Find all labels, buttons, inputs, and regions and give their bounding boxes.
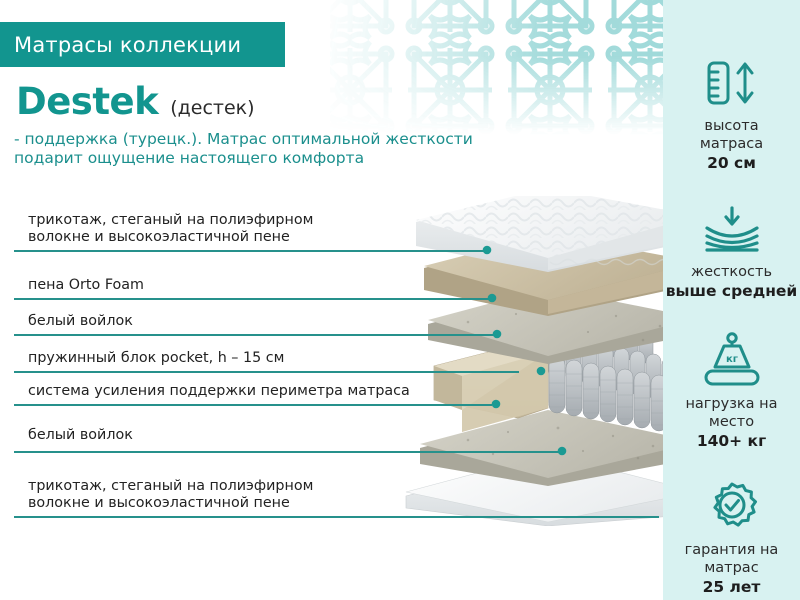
- leader-dot-white-felt-1: [490, 327, 504, 341]
- layer-label-white-felt-2: белый войлок: [14, 427, 559, 444]
- brand-description: - поддержка (турецк.). Матрас оптимально…: [14, 130, 554, 168]
- spec-caption-line-2: место: [669, 413, 794, 431]
- layer-label-line-2: волокне и высокоэластичной пене: [14, 229, 484, 246]
- collection-banner: Матрасы коллекции: [0, 22, 285, 67]
- spec-caption: нагрузка на место: [663, 395, 800, 431]
- layer-label-line-2: волокне и высокоэластичной пене: [14, 495, 664, 512]
- collection-banner-label: Матрасы коллекции: [0, 33, 241, 57]
- layer-label-line-1: система усиления поддержки периметра мат…: [14, 383, 492, 400]
- spec-load-capacity: кг нагрузка на место 140+ кг: [663, 330, 800, 450]
- spec-caption-line-2: матрас: [669, 559, 794, 577]
- layer-label-white-felt-1: белый войлок: [14, 313, 494, 330]
- spec-caption: гарантия на матрас: [663, 541, 800, 577]
- layer-label-pocket-block: пружинный блок pocket, h – 15 см: [14, 350, 519, 367]
- layer-label-line-1: белый войлок: [14, 313, 494, 330]
- brand-description-line-1: - поддержка (турецк.). Матрас оптимально…: [14, 130, 554, 149]
- layer-label-line-1: трикотаж, стеганый на полиэфирном: [14, 478, 664, 495]
- specs-sidebar: высота матраса 20 см жесткость выше с: [663, 0, 800, 600]
- leader-dot-pocket-block: [534, 364, 548, 378]
- spec-value: 20 см: [663, 154, 800, 172]
- spec-value: выше средней: [663, 282, 800, 300]
- layer-label-orto-foam: пена Orto Foam: [14, 277, 489, 294]
- leader-dot-knit-top: [480, 243, 494, 257]
- spec-mattress-height: высота матраса 20 см: [663, 52, 800, 172]
- leader-dot-orto-foam: [485, 291, 499, 305]
- layer-label-knit-top: трикотаж, стеганый на полиэфирном волокн…: [14, 212, 484, 246]
- layer-label-line-1: трикотаж, стеганый на полиэфирном: [14, 212, 484, 229]
- leader-dot-perimeter: [489, 397, 503, 411]
- spec-caption-line-2: матраса: [669, 135, 794, 153]
- leader-line: [14, 250, 484, 252]
- spec-caption: жесткость: [663, 263, 800, 281]
- firmness-wave-icon: [663, 198, 800, 254]
- brand-heading: Destek (дестек): [16, 80, 255, 123]
- brand-name: Destek: [16, 80, 158, 123]
- spec-caption: высота матраса: [663, 117, 800, 153]
- spec-caption-line-1: жесткость: [669, 263, 794, 281]
- spec-firmness: жесткость выше средней: [663, 198, 800, 300]
- layer-label-perimeter: система усиления поддержки периметра мат…: [14, 383, 492, 400]
- spec-value: 140+ кг: [663, 432, 800, 450]
- leader-line: [14, 451, 559, 453]
- layer-label-line-1: пена Orto Foam: [14, 277, 489, 294]
- layer-label-knit-bottom: трикотаж, стеганый на полиэфирном волокн…: [14, 478, 664, 512]
- infographic-canvas: Матрасы коллекции Destek (дестек) - подд…: [0, 0, 800, 600]
- leader-dot-white-felt-2: [555, 444, 569, 458]
- leader-line: [14, 404, 492, 406]
- brand-description-line-2: подарит ощущение настоящего комфорта: [14, 149, 554, 168]
- leader-line: [14, 334, 494, 336]
- layer-label-line-1: пружинный блок pocket, h – 15 см: [14, 350, 519, 367]
- ruler-height-icon: [663, 52, 800, 108]
- weight-icon-label: кг: [725, 354, 737, 365]
- warranty-badge-icon: [663, 476, 800, 532]
- spec-value: 25 лет: [663, 578, 800, 596]
- weight-load-icon: кг: [663, 330, 800, 386]
- turkish-pattern-decoration: [330, 0, 670, 135]
- spec-caption-line-1: нагрузка на: [669, 395, 794, 413]
- brand-transliteration: (дестек): [170, 97, 254, 119]
- leader-line: [14, 298, 489, 300]
- spec-warranty: гарантия на матрас 25 лет: [663, 476, 800, 596]
- leader-line: [14, 371, 519, 373]
- layer-label-line-1: белый войлок: [14, 427, 559, 444]
- leader-line: [14, 516, 659, 518]
- spec-caption-line-1: гарантия на: [669, 541, 794, 559]
- spec-caption-line-1: высота: [669, 117, 794, 135]
